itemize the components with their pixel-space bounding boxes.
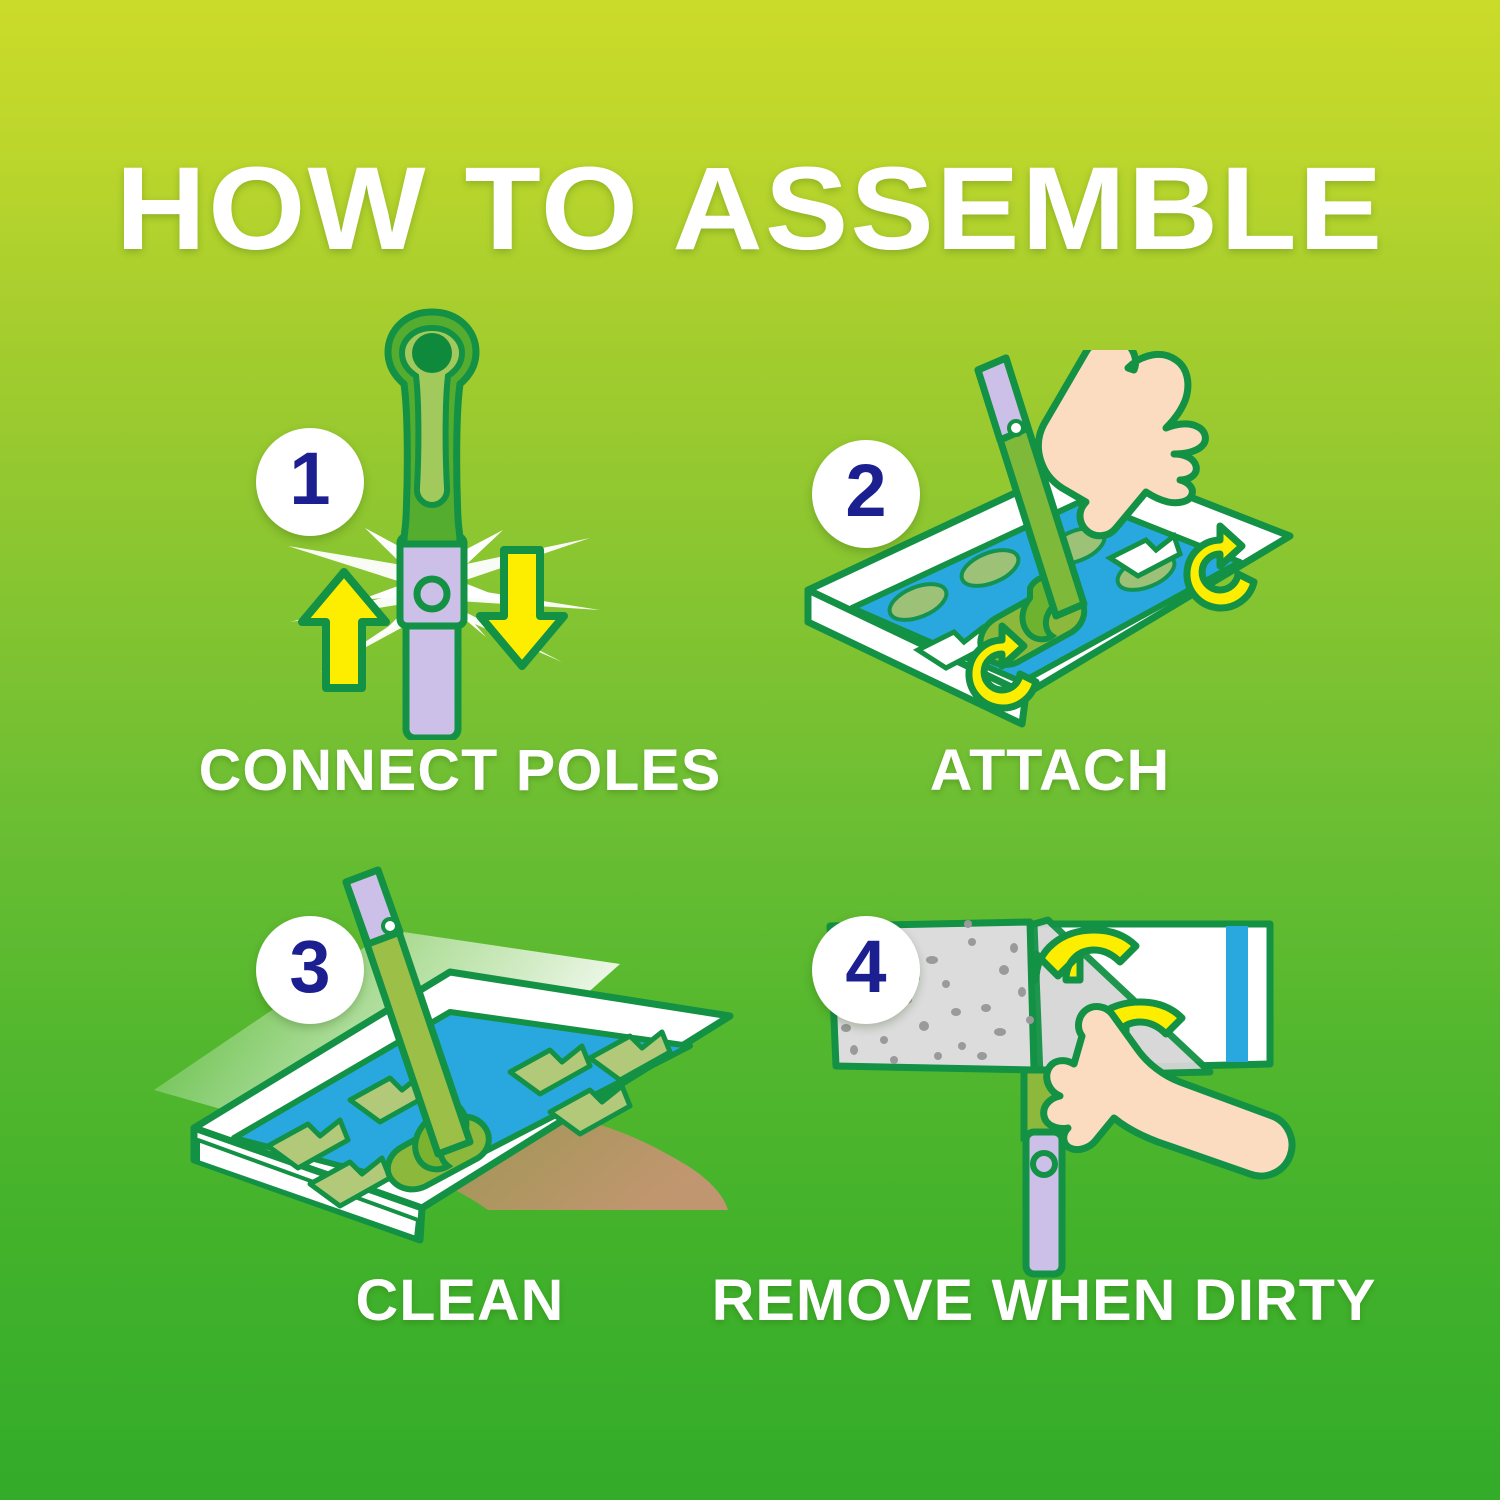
- step-3: 3: [150, 860, 770, 1260]
- step-badge-1: 1: [256, 428, 364, 536]
- pad-blue-strip: [1226, 926, 1248, 1062]
- step-badge-4: 4: [812, 916, 920, 1024]
- mop-attach-pad-icon: [790, 350, 1310, 750]
- step-number-4: 4: [845, 930, 886, 1004]
- step-caption-3: CLEAN: [164, 1272, 756, 1330]
- step-2: 2: [790, 350, 1310, 750]
- pole-button-hole: [1009, 421, 1023, 435]
- arrow-up-icon: [302, 572, 386, 688]
- step-badge-2: 2: [812, 440, 920, 548]
- page-title: HOW TO ASSEMBLE: [0, 150, 1500, 268]
- step-caption-1: CONNECT POLES: [164, 742, 756, 800]
- step-4: 4: [790, 880, 1310, 1280]
- step-1: 1: [170, 300, 750, 740]
- step-caption-2: ATTACH: [785, 742, 1315, 800]
- step-number-1: 1: [289, 442, 330, 516]
- pole-button-hole: [383, 919, 397, 933]
- pole-button-hole: [417, 579, 447, 609]
- handle-hang-hole: [412, 333, 452, 373]
- mop-pole-connect-icon: [170, 300, 750, 740]
- pole-button-hole: [1033, 1153, 1055, 1175]
- how-to-assemble-poster: HOW TO ASSEMBLE: [0, 0, 1500, 1500]
- step-caption-4: REMOVE WHEN DIRTY: [712, 1272, 1365, 1330]
- step-number-2: 2: [845, 454, 886, 528]
- step-number-3: 3: [289, 930, 330, 1004]
- step-badge-3: 3: [256, 916, 364, 1024]
- mop-clean-floor-icon: [150, 860, 770, 1260]
